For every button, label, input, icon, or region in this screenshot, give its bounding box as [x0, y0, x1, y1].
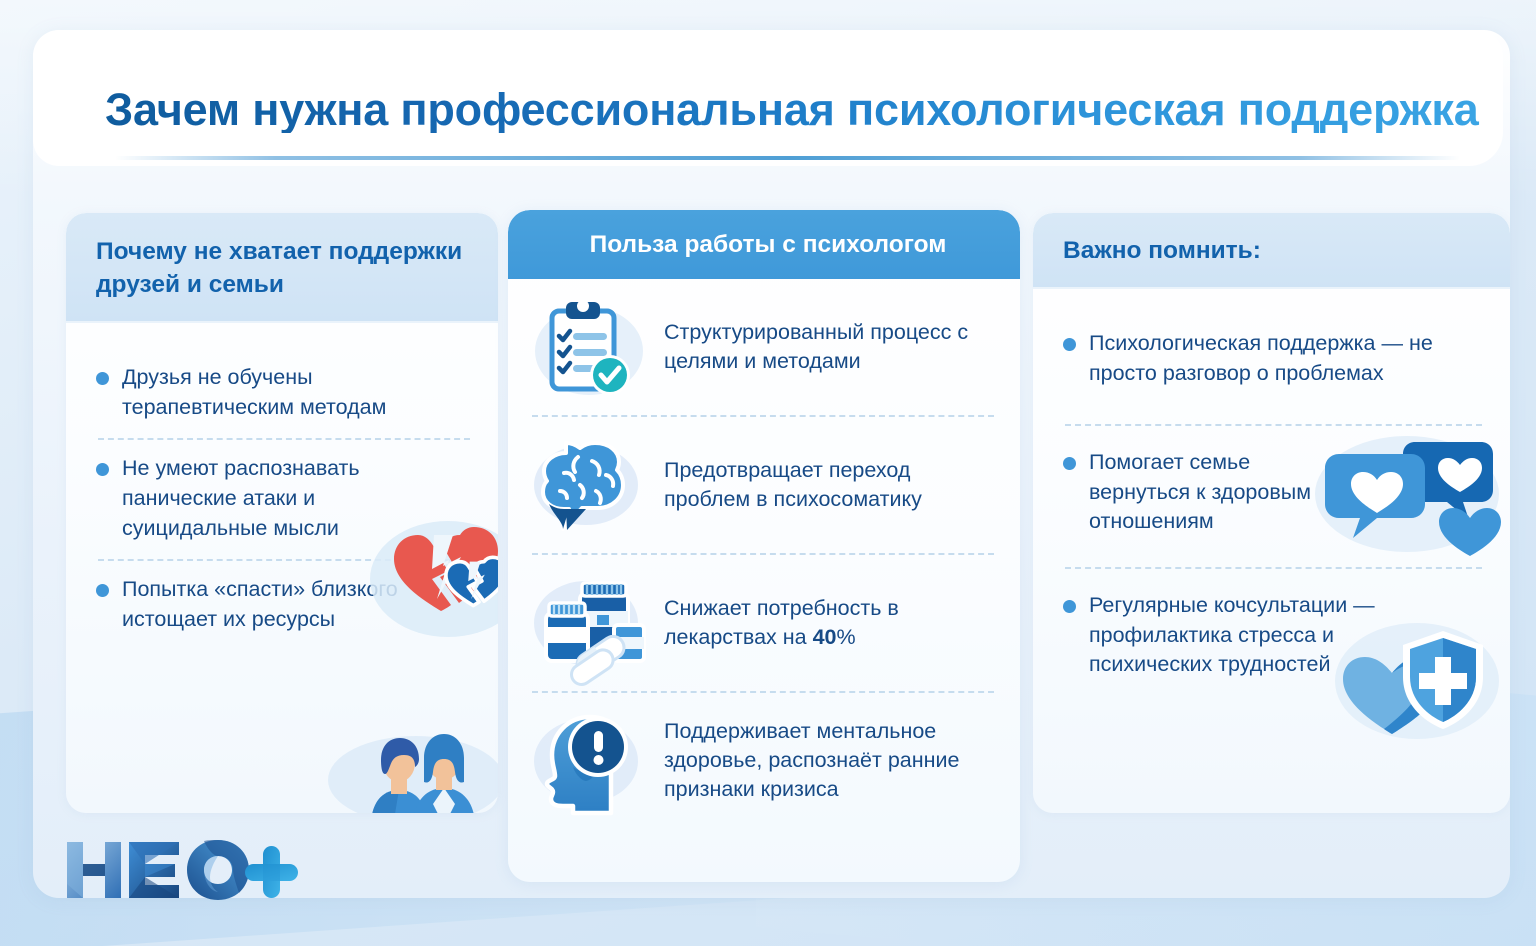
list-item: Регулярные кочсультации — профилактика с… [1063, 569, 1484, 696]
title-band: Зачем нужна профессиональная психологиче… [33, 30, 1503, 166]
bullet-dot-icon [96, 463, 109, 476]
list-item: Психологическая поддержка — не просто ра… [1063, 315, 1484, 404]
benefit-value: 40 [813, 625, 837, 649]
benefit-row: Снижает потребность в лекарствах на 40% [508, 555, 1020, 691]
page-root: Зачем нужна профессиональная психологиче… [0, 0, 1536, 946]
list-item-text: Не умеют распознавать панические атаки и… [122, 454, 412, 543]
list-item: Помогает семье вернуться к здоровым отно… [1063, 426, 1484, 553]
bullet-dot-icon [96, 372, 109, 385]
bullet-dot-icon [1063, 457, 1076, 470]
right-bullet-list: Психологическая поддержка — не просто ра… [1033, 289, 1510, 696]
neo-plus-logo [63, 838, 293, 906]
list-item-text: Попытка «спасти» близкого истощает их ре… [122, 575, 472, 634]
column-why-friends-not-enough: Почему не хватает поддержки друзей и сем… [66, 213, 498, 813]
list-item-text: Психологическая поддержка — не просто ра… [1089, 329, 1484, 388]
benefit-row: Предотвращает переход проблем в психосом… [508, 417, 1020, 553]
brain-icon [530, 433, 648, 537]
list-item-text: Помогает семье вернуться к здоровым отно… [1089, 448, 1341, 537]
infographic-canvas: Зачем нужна профессиональная психологиче… [33, 30, 1510, 898]
bullet-dot-icon [1063, 338, 1076, 351]
title-underline-rule [115, 156, 1460, 160]
list-item-text: Регулярные кочсультации — профилактика с… [1089, 591, 1389, 680]
left-column-heading: Почему не хватает поддержки друзей и сем… [66, 213, 498, 323]
couple-illustration [321, 708, 498, 813]
list-item: Не умеют распознавать панические атаки и… [96, 440, 472, 559]
bullet-dot-icon [96, 584, 109, 597]
benefit-text-after: % [836, 625, 855, 649]
benefit-text: Структурированный процесс с целями и мет… [664, 318, 1002, 376]
benefit-row: Поддерживает ментальное здоровье, распоз… [508, 693, 1020, 829]
left-bullet-list: Друзья не обучены терапевтическим метода… [66, 323, 498, 651]
benefit-row: Структурированный процесс с целями и мет… [508, 279, 1020, 415]
clipboard-checklist-icon [530, 295, 648, 399]
bullet-dot-icon [1063, 600, 1076, 613]
page-title: Зачем нужна профессиональная психологиче… [105, 86, 1485, 133]
head-alert-icon [530, 709, 648, 813]
column-benefits-of-psychologist: Польза работы с психологом [508, 210, 1020, 882]
right-column-heading: Важно помнить: [1033, 213, 1510, 289]
benefit-text: Снижает потребность в лекарствах на 40% [664, 594, 1002, 652]
list-item: Друзья не обучены терапевтическим метода… [96, 349, 472, 438]
middle-column-heading: Польза работы с психологом [508, 210, 1020, 279]
list-item-text: Друзья не обучены терапевтическим метода… [122, 363, 472, 422]
benefit-text: Предотвращает переход проблем в психосом… [664, 456, 1002, 514]
column-important-to-remember: Важно помнить: Психологическая поддержка… [1033, 213, 1510, 813]
pills-bottles-icon [530, 571, 648, 675]
benefit-text-before: Снижает потребность в лекарствах на [664, 596, 899, 649]
list-item: Попытка «спасти» близкого истощает их ре… [96, 561, 472, 650]
benefit-text: Поддерживает ментальное здоровье, распоз… [664, 717, 1002, 805]
